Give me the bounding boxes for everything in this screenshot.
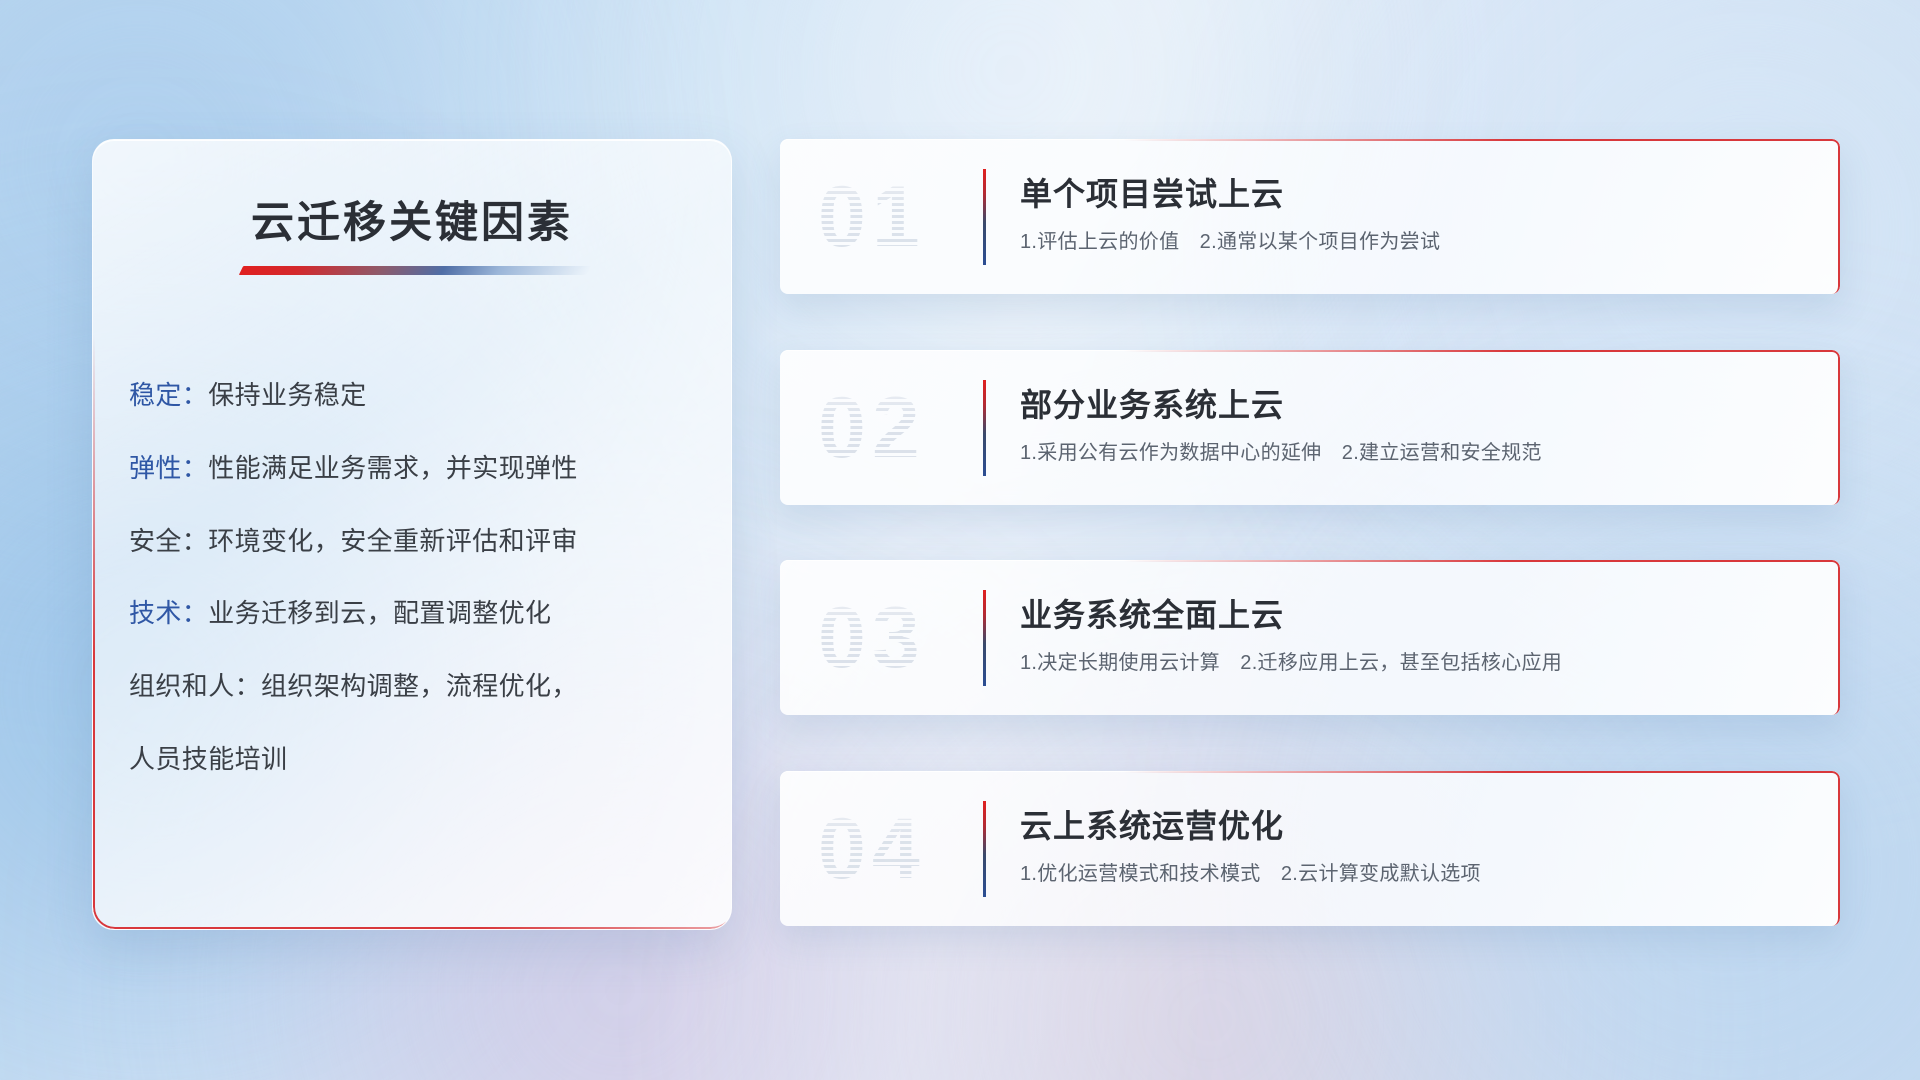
stage-subtitle: 1.决定长期使用云计算 2.迁移应用上云，甚至包括核心应用 — [1020, 646, 1562, 675]
stage-subtitle: 1.优化运营模式和技术模式 2.云计算变成默认选项 — [1020, 857, 1481, 886]
key-factor-item: 稳定：保持业务稳定 — [129, 378, 701, 413]
title-underline-accent — [239, 266, 591, 275]
key-factor-label: 组织和人： — [129, 671, 261, 701]
stage-card-03[interactable]: 03业务系统全面上云1.决定长期使用云计算 2.迁移应用上云，甚至包括核心应用 — [780, 560, 1840, 715]
key-factor-label: 弹性： — [129, 453, 208, 483]
stage-divider-accent — [983, 169, 986, 265]
stage-divider-accent — [983, 590, 986, 686]
key-factor-item: 弹性：性能满足业务需求，并实现弹性 — [129, 451, 701, 486]
key-factor-text: 性能满足业务需求，并实现弹性 — [208, 453, 578, 483]
stage-card-01[interactable]: 01单个项目尝试上云1.评估上云的价值 2.通常以某个项目作为尝试 — [780, 139, 1840, 294]
stage-number: 01 — [818, 155, 926, 279]
key-factor-text: 业务迁移到云，配置调整优化 — [208, 598, 551, 628]
stage-number: 02 — [818, 366, 926, 490]
key-factor-text: 环境变化，安全重新评估和评审 — [208, 526, 578, 556]
stage-title: 云上系统运营优化 — [1020, 801, 1284, 847]
stage-divider-accent — [983, 380, 986, 476]
stage-number: 04 — [818, 787, 926, 911]
key-factor-label: 稳定： — [129, 380, 208, 410]
key-factor-item: 安全：环境变化，安全重新评估和评审 — [129, 524, 701, 559]
stage-divider-accent — [983, 801, 986, 897]
key-factor-text: 人员技能培训 — [129, 744, 287, 774]
key-factor-item: 技术：业务迁移到云，配置调整优化 — [129, 596, 701, 631]
page-title: 云迁移关键因素 — [93, 188, 731, 250]
stage-card-02[interactable]: 02部分业务系统上云1.采用公有云作为数据中心的延伸 2.建立运营和安全规范 — [780, 350, 1840, 505]
stage-title: 业务系统全面上云 — [1020, 590, 1284, 636]
key-factors-list: 稳定：保持业务稳定弹性：性能满足业务需求，并实现弹性安全：环境变化，安全重新评估… — [129, 378, 701, 777]
key-factor-label: 安全： — [129, 526, 208, 556]
key-factor-item: 人员技能培训 — [129, 742, 701, 777]
stage-subtitle: 1.采用公有云作为数据中心的延伸 2.建立运营和安全规范 — [1020, 436, 1542, 465]
key-factor-item: 组织和人：组织架构调整，流程优化， — [129, 669, 701, 704]
stage-number: 03 — [818, 576, 926, 700]
stage-subtitle: 1.评估上云的价值 2.通常以某个项目作为尝试 — [1020, 225, 1440, 254]
key-factor-text: 组织架构调整，流程优化， — [261, 671, 578, 701]
stage-card-04[interactable]: 04云上系统运营优化1.优化运营模式和技术模式 2.云计算变成默认选项 — [780, 771, 1840, 926]
key-factors-panel: 云迁移关键因素 稳定：保持业务稳定弹性：性能满足业务需求，并实现弹性安全：环境变… — [92, 139, 732, 930]
key-factor-label: 技术： — [129, 598, 208, 628]
stage-title: 单个项目尝试上云 — [1020, 169, 1284, 215]
stage-title: 部分业务系统上云 — [1020, 380, 1284, 426]
key-factor-text: 保持业务稳定 — [208, 380, 366, 410]
